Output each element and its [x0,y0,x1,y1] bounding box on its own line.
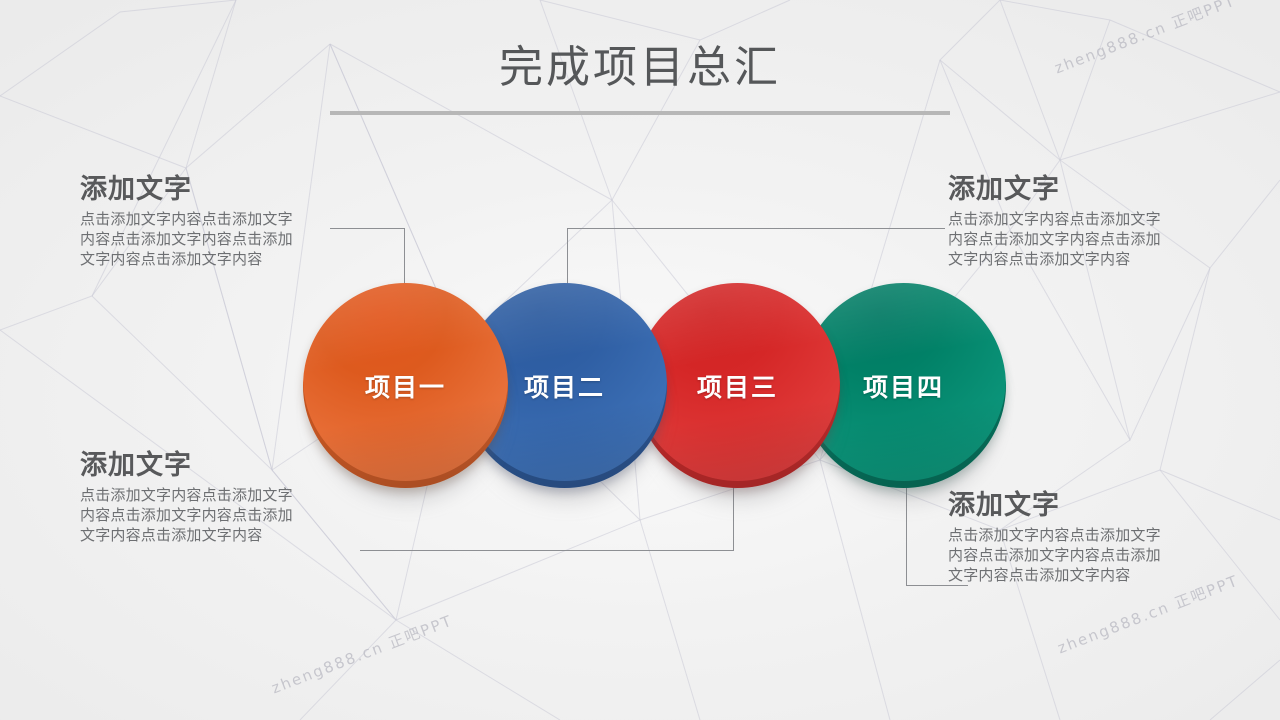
circle-chain: 项目一 项目二 项目三 项目四 [0,0,1280,720]
circle-three-label: 项目三 [697,368,778,404]
circle-two-label: 项目二 [524,368,605,404]
circle-one-body[interactable]: 项目一 [303,283,508,488]
slide-canvas: zheng888.cn 正吧PPT zheng888.cn 正吧PPT zhen… [0,0,1280,720]
circle-item-one[interactable]: 项目一 [303,283,508,488]
circle-four-label: 项目四 [863,368,944,404]
circle-one-label: 项目一 [365,368,446,404]
